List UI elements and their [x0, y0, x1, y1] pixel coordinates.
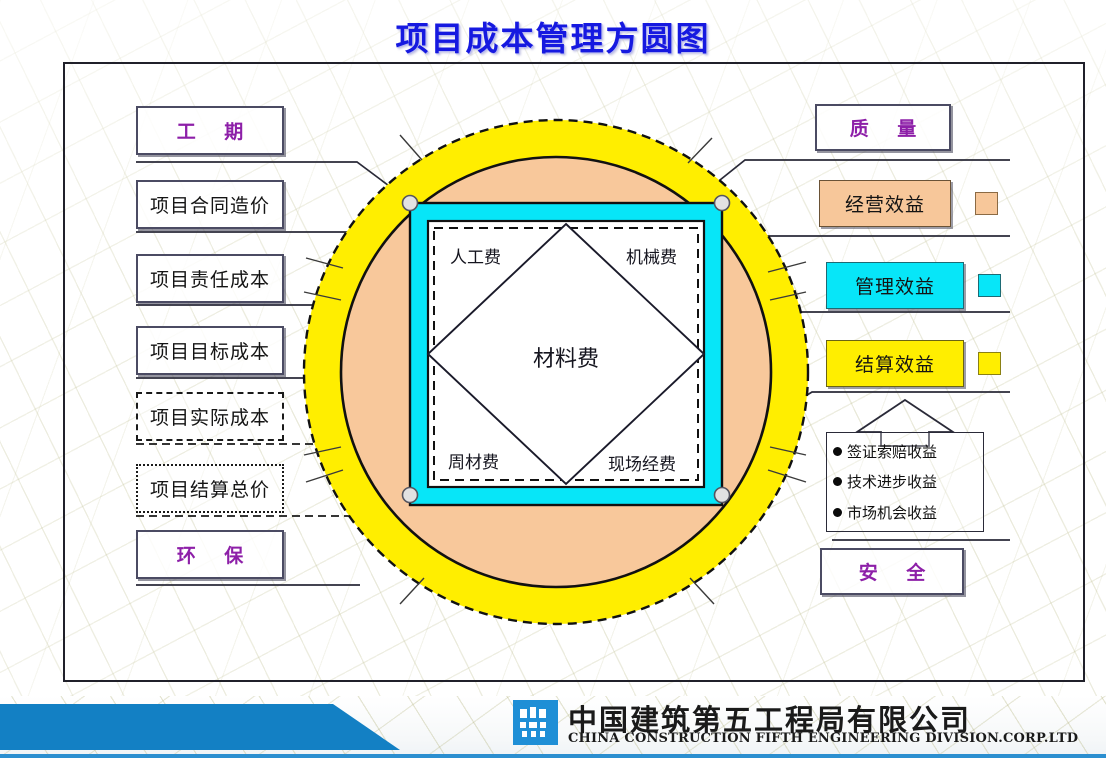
list-item-label: 技术进步收益 [847, 471, 937, 492]
list-item-label: 市场机会收益 [847, 502, 937, 523]
bullet-icon [833, 477, 842, 486]
cost-label-turnover-material: 周材费 [448, 448, 499, 473]
label-text: 管理效益 [855, 272, 935, 299]
company-logo-icon [513, 700, 558, 745]
label-text: 质 量 [839, 114, 928, 141]
benefit-sources-box: 签证索赔收益 技术进步收益 市场机会收益 [826, 432, 984, 532]
label-box-operating-benefit[interactable]: 经营效益 [819, 180, 951, 227]
label-text: 环 保 [166, 541, 255, 568]
label-text: 经营效益 [845, 190, 925, 217]
bullet-icon [833, 447, 842, 456]
bullet-icon [833, 508, 842, 517]
label-text: 项目合同造价 [150, 191, 270, 218]
cost-label-machinery: 机械费 [626, 243, 677, 268]
slide-canvas: 项目成本管理方圆图 [0, 0, 1106, 758]
cost-label-site-expense: 现场经费 [608, 450, 676, 475]
footer-bottom-rule [0, 754, 1106, 758]
label-text: 项目结算总价 [150, 475, 270, 502]
cost-label-material: 材料费 [533, 341, 599, 373]
cost-label-labor: 人工费 [450, 243, 501, 268]
label-box-settlement-benefit[interactable]: 结算效益 [826, 340, 964, 387]
label-text: 结算效益 [855, 350, 935, 377]
list-item: 市场机会收益 [833, 502, 983, 523]
label-text: 工 期 [166, 117, 255, 144]
label-box-target-cost[interactable]: 项目目标成本 [136, 326, 284, 375]
list-item: 签证索赔收益 [833, 441, 983, 462]
footer-blue-band [0, 704, 400, 750]
label-box-safety[interactable]: 安 全 [820, 548, 964, 595]
label-text: 项目责任成本 [150, 265, 270, 292]
label-box-environment[interactable]: 环 保 [136, 530, 284, 579]
swatch-settlement-benefit [978, 352, 1001, 375]
label-text: 安 全 [848, 558, 937, 585]
label-text: 项目目标成本 [150, 337, 270, 364]
page-title: 项目成本管理方圆图 [0, 12, 1106, 60]
label-text: 项目实际成本 [150, 403, 270, 430]
swatch-operating-benefit [975, 192, 998, 215]
label-box-settlement-total[interactable]: 项目结算总价 [136, 464, 284, 513]
label-box-contract-price[interactable]: 项目合同造价 [136, 180, 284, 229]
label-box-quality[interactable]: 质 量 [815, 104, 951, 151]
list-item: 技术进步收益 [833, 471, 983, 492]
company-name-en: CHINA CONSTRUCTION FIFTH ENGINEERING DIV… [568, 731, 1078, 746]
label-box-actual-cost[interactable]: 项目实际成本 [136, 392, 284, 441]
label-box-responsibility-cost[interactable]: 项目责任成本 [136, 254, 284, 303]
label-box-management-benefit[interactable]: 管理效益 [826, 262, 964, 309]
swatch-management-benefit [978, 274, 1001, 297]
list-item-label: 签证索赔收益 [847, 441, 937, 462]
label-box-duration[interactable]: 工 期 [136, 106, 284, 155]
